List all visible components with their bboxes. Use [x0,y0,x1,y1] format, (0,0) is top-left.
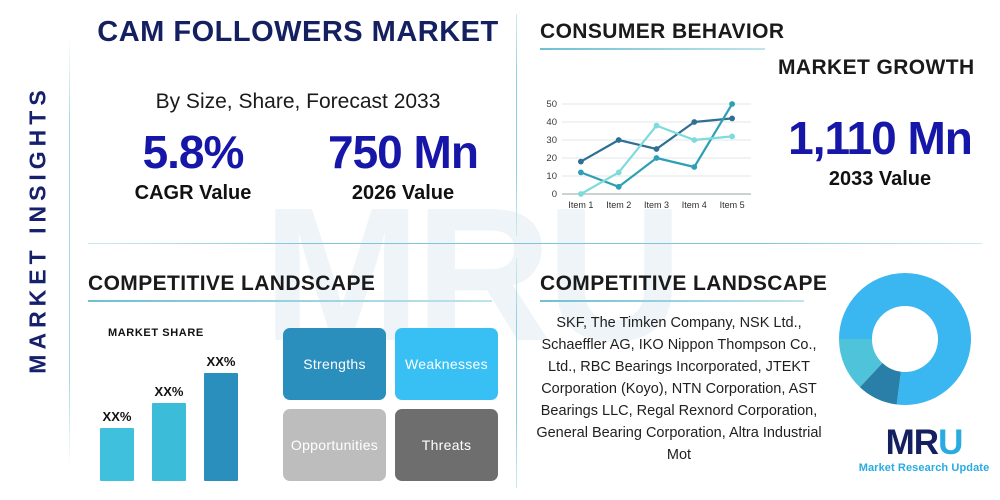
svg-text:30: 30 [546,135,557,146]
svg-text:40: 40 [546,117,557,128]
logo-tagline: Market Research Update [858,462,990,474]
company-list: SKF, The Timken Company, NSK Ltd., Schae… [534,312,824,466]
consumer-behavior-heading: CONSUMER BEHAVIOR [540,20,784,44]
swot-box-label: Strengths [303,356,366,372]
svg-text:10: 10 [546,171,557,182]
competitive-landscape-left-heading: COMPETITIVE LANDSCAPE [88,272,375,296]
kpi-cagr: 5.8% CAGR Value [88,124,298,224]
swot-box-opportunities[interactable]: Opportunities [283,409,386,481]
bar-group: XX% [152,384,186,481]
svg-text:Item 1: Item 1 [568,200,593,210]
donut-segment [897,273,971,405]
kpi-2026-value: 750 Mn [298,124,508,180]
svg-text:Item 4: Item 4 [682,200,707,210]
svg-text:Item 3: Item 3 [644,200,669,210]
kpi-2033-value: 1,110 Mn [762,110,998,166]
competitive-landscape-right-heading: COMPETITIVE LANDSCAPE [540,272,827,296]
vertical-divider-top [516,14,517,236]
donut-segment [839,273,905,339]
bar [100,428,134,481]
kpi-cagr-value: 5.8% [88,124,298,180]
logo-mark: MRU [858,424,990,462]
infographic-page: MRU MARKET INSIGHTS CAM FOLLOWERS MARKET… [0,0,1000,500]
market-share-donut-chart [838,272,972,406]
market-share-bar-chart: XX%XX%XX% [100,336,270,481]
logo-mark-accent: U [938,423,962,462]
bar-group: XX% [204,354,238,481]
swot-box-label: Opportunities [291,437,378,453]
svg-text:20: 20 [546,153,557,164]
bar-value-label: XX% [207,354,236,369]
kpi-2026: 750 Mn 2026 Value [298,124,508,224]
kpi-2033: 1,110 Mn 2033 Value [762,110,998,191]
kpi-cagr-label: CAGR Value [88,182,298,205]
bar-value-label: XX% [103,409,132,424]
kpi-2026-label: 2026 Value [298,182,508,205]
logo-mark-text: MR [886,423,938,462]
swot-box-strengths[interactable]: Strengths [283,328,386,400]
page-subtitle: By Size, Share, Forecast 2033 [88,90,508,114]
horizontal-divider [88,243,982,244]
market-growth-heading: MARKET GROWTH [778,56,975,80]
svg-text:Item 2: Item 2 [606,200,631,210]
page-title: CAM FOLLOWERS MARKET [88,16,508,49]
side-banner-divider [69,36,70,468]
bar-value-label: XX% [155,384,184,399]
vertical-divider-bottom [516,258,517,488]
svg-text:50: 50 [546,99,557,110]
svg-text:0: 0 [552,189,557,200]
competitive-landscape-left-underline [88,300,492,302]
swot-grid: StrengthsWeaknessesOpportunitiesThreats [283,328,498,481]
swot-box-weaknesses[interactable]: Weaknesses [395,328,498,400]
swot-box-label: Weaknesses [405,356,488,372]
side-banner: MARKET INSIGHTS [0,0,70,500]
svg-text:Item 5: Item 5 [720,200,745,210]
bar [204,373,238,481]
mru-logo: MRU Market Research Update [858,424,990,486]
consumer-behavior-underline [540,48,765,50]
bar [152,403,186,481]
side-banner-label: MARKET INSIGHTS [25,10,52,450]
consumer-behavior-line-chart: 01020304050Item 1Item 2Item 3Item 4Item … [532,98,757,216]
kpi-row: 5.8% CAGR Value 750 Mn 2026 Value [88,124,508,224]
swot-box-threats[interactable]: Threats [395,409,498,481]
bar-group: XX% [100,409,134,481]
swot-box-label: Threats [422,437,472,453]
kpi-2033-label: 2033 Value [762,168,998,191]
competitive-landscape-right-underline [540,300,804,302]
